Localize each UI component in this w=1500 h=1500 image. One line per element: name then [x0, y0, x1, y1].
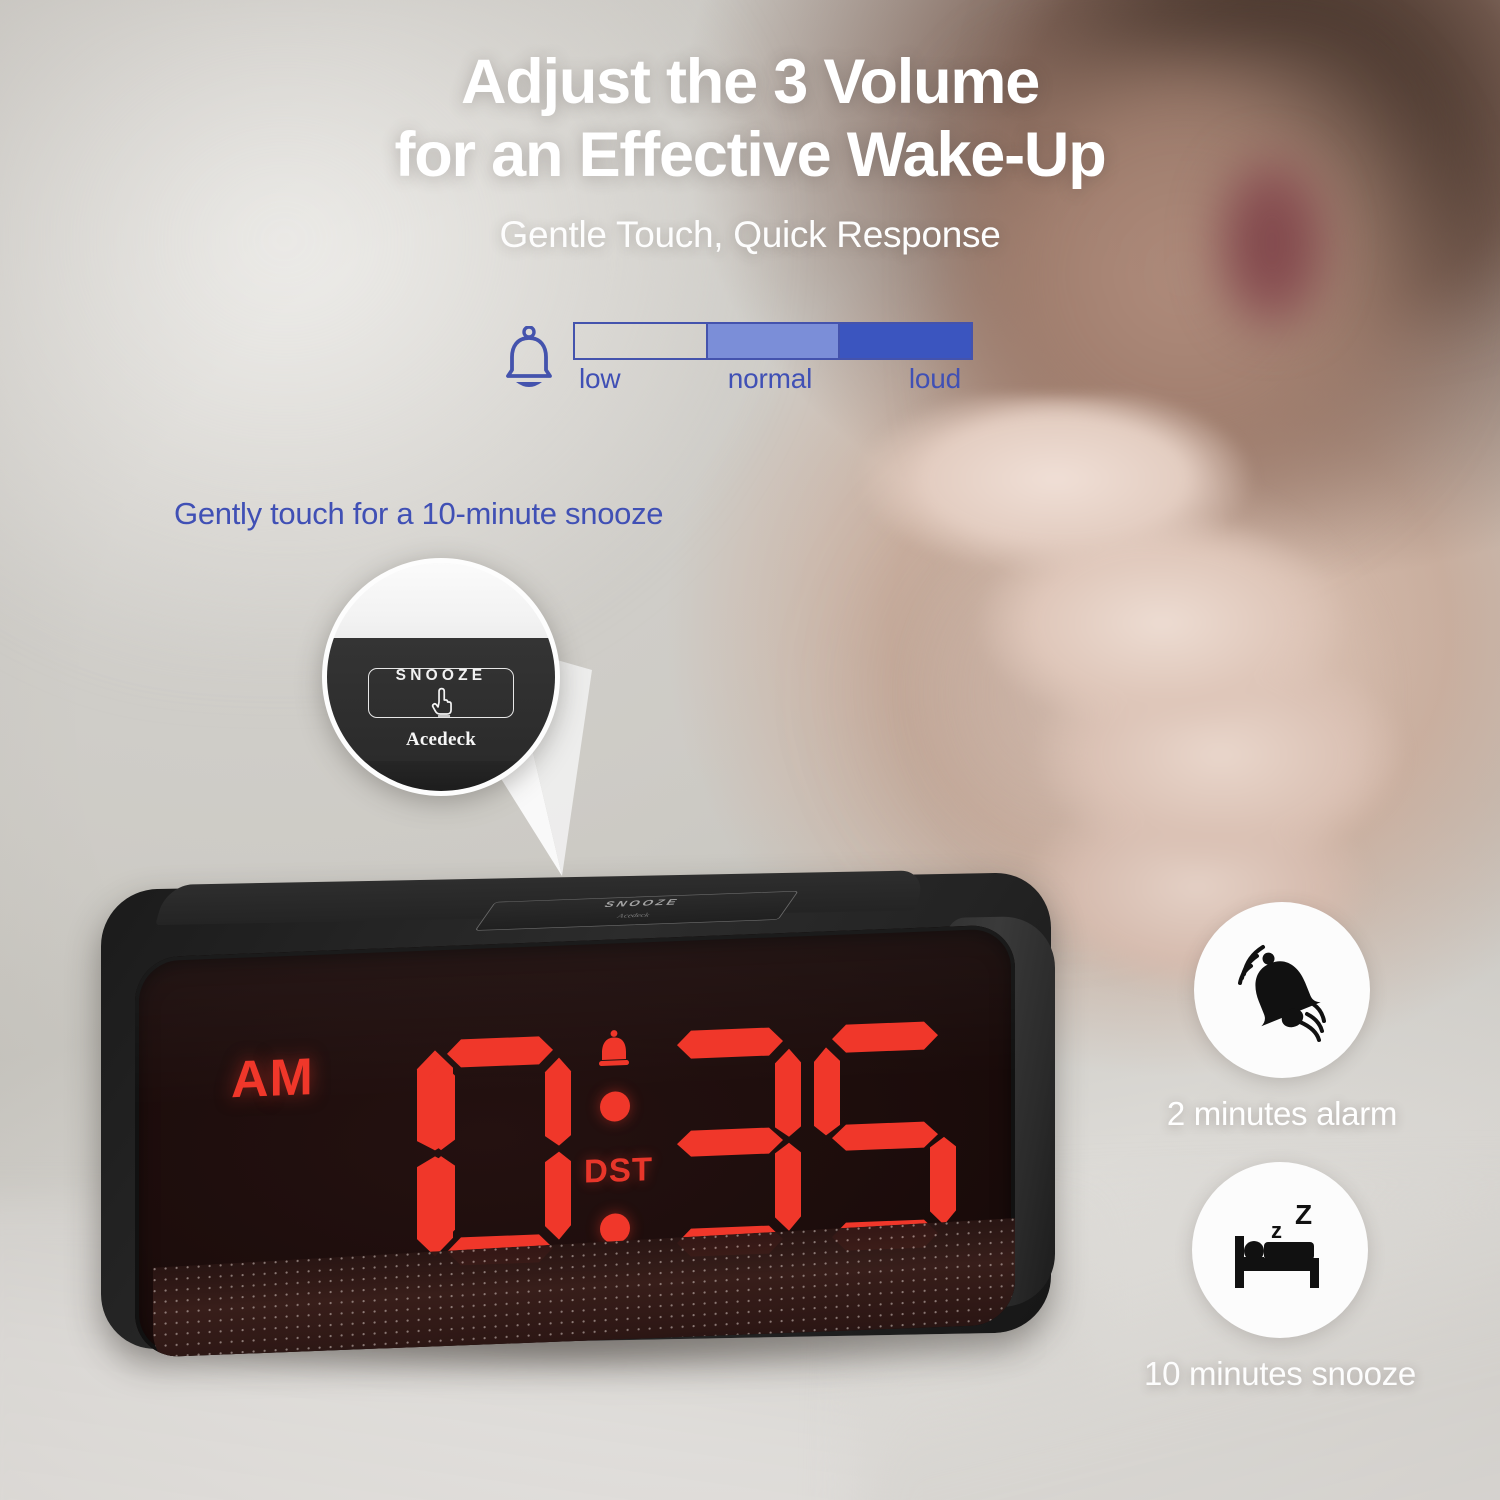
snooze-badge-label: 10 minutes snooze [1130, 1355, 1430, 1393]
alarm-badge-circle [1194, 902, 1370, 1078]
alarm-clock-device: SNOOZE Acedeck AM [85, 845, 1095, 1385]
sleeping-bed-icon: Z z [1221, 1194, 1339, 1306]
volume-scale: low normal loud [573, 322, 973, 395]
dst-indicator: DST [584, 1150, 653, 1191]
hour-digit-ones [425, 1023, 575, 1279]
magnifier-device-lower [327, 761, 555, 791]
headline-line-2: for an Effective Wake-Up [0, 119, 1500, 192]
volume-level-indicator: low normal loud [502, 322, 973, 395]
volume-segment-loud[interactable] [840, 324, 971, 358]
volume-segment-low[interactable] [575, 324, 708, 358]
svg-text:z: z [1271, 1218, 1282, 1243]
volume-track[interactable] [573, 322, 973, 360]
volume-label-low: low [573, 363, 706, 395]
feature-alarm-duration: 2 minutes alarm [1132, 902, 1432, 1133]
led-display-screen: AM [135, 924, 1015, 1358]
volume-labels: low normal loud [573, 363, 973, 395]
alarm-badge-label: 2 minutes alarm [1132, 1095, 1432, 1133]
volume-segment-normal[interactable] [708, 324, 841, 358]
snooze-hint-text: Gently touch for a 10-minute snooze [174, 496, 663, 532]
snooze-button[interactable]: SNOOZE [368, 668, 514, 718]
brand-logo-text: Acedeck [327, 729, 555, 751]
bell-icon [502, 326, 556, 392]
feature-snooze-duration: Z z 10 minutes snooze [1130, 1162, 1430, 1393]
magnifier-gloss [327, 563, 555, 645]
snooze-button-label: SNOOZE [369, 667, 513, 685]
pointing-hand-icon [429, 686, 455, 718]
subheadline: Gentle Touch, Quick Response [0, 214, 1500, 256]
meridiem-indicator: AM [231, 1047, 314, 1110]
volume-label-loud: loud [834, 363, 973, 395]
device-body: SNOOZE Acedeck AM [101, 872, 1051, 1350]
alarm-bell-icon [596, 1029, 632, 1070]
colon-dot-upper [600, 1091, 630, 1122]
snooze-badge-circle: Z z [1192, 1162, 1368, 1338]
svg-text:Z: Z [1295, 1199, 1312, 1230]
colon-dot-lower [600, 1213, 630, 1244]
ringing-bell-icon [1226, 934, 1338, 1046]
volume-label-normal: normal [706, 363, 833, 395]
colon-and-indicators: DST [578, 1028, 648, 1271]
snooze-magnifier-callout: SNOOZE Acedeck [322, 558, 560, 796]
headline-line-1: Adjust the 3 Volume [0, 46, 1500, 119]
headline-block: Adjust the 3 Volume for an Effective Wak… [0, 46, 1500, 256]
